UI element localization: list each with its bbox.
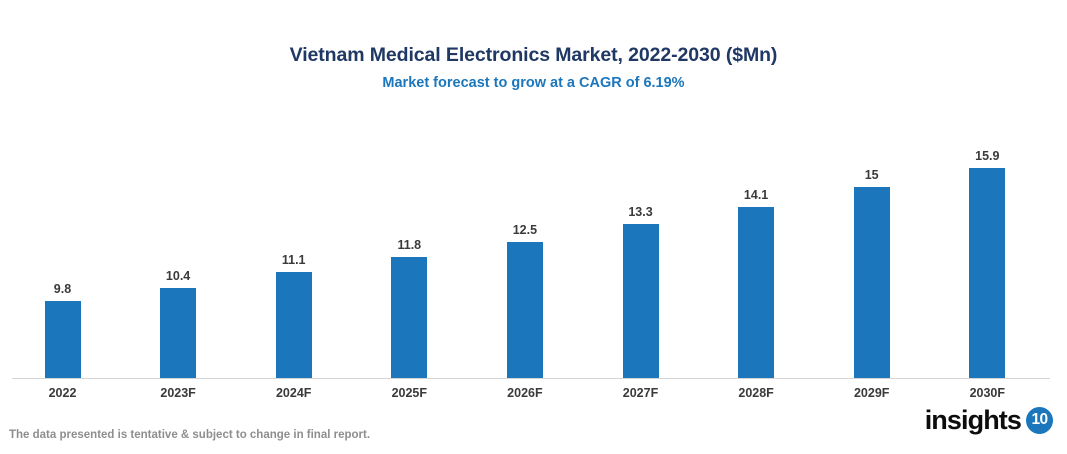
bar-group: 11.1 xyxy=(276,272,312,378)
category-label: 2022 xyxy=(49,386,77,401)
bar-group: 10.4 xyxy=(160,288,196,378)
bar[interactable] xyxy=(969,168,1005,378)
bar-value-label: 13.3 xyxy=(628,205,652,219)
disclaimer-text: The data presented is tentative & subjec… xyxy=(9,429,370,441)
insights10-logo: insights 10 xyxy=(925,406,1053,434)
bar[interactable] xyxy=(276,272,312,378)
bar-group: 15 xyxy=(854,187,890,378)
bar-value-label: 11.1 xyxy=(282,253,306,267)
chart-figure: Vietnam Medical Electronics Market, 2022… xyxy=(0,0,1067,454)
logo-badge-icon: 10 xyxy=(1026,407,1053,434)
bar[interactable] xyxy=(45,301,81,378)
category-label: 2030F xyxy=(970,386,1005,401)
x-axis-line xyxy=(12,378,1050,379)
category-label: 2025F xyxy=(392,386,427,401)
category-label: 2027F xyxy=(623,386,658,401)
bar-group: 11.8 xyxy=(391,257,427,378)
bar-group: 15.9 xyxy=(969,168,1005,378)
category-label: 2028F xyxy=(738,386,773,401)
logo-wordmark: insights xyxy=(925,406,1021,434)
plot-area: 9.8202210.42023F11.12024F11.82025F12.520… xyxy=(0,0,1067,454)
category-label: 2023F xyxy=(160,386,195,401)
bar-value-label: 9.8 xyxy=(54,282,71,296)
bar-group: 14.1 xyxy=(738,207,774,378)
bar-group: 13.3 xyxy=(623,224,659,378)
bar-group: 9.8 xyxy=(45,301,81,378)
bar[interactable] xyxy=(160,288,196,378)
bar-value-label: 15 xyxy=(865,168,879,182)
bar-group: 12.5 xyxy=(507,242,543,378)
bar-value-label: 15.9 xyxy=(975,149,999,163)
bar[interactable] xyxy=(623,224,659,378)
bar[interactable] xyxy=(391,257,427,378)
category-label: 2029F xyxy=(854,386,889,401)
bar-value-label: 10.4 xyxy=(166,269,190,283)
bar-value-label: 14.1 xyxy=(744,188,768,202)
category-label: 2024F xyxy=(276,386,311,401)
bar-value-label: 11.8 xyxy=(397,238,421,252)
bar[interactable] xyxy=(507,242,543,378)
bar-value-label: 12.5 xyxy=(513,223,537,237)
category-label: 2026F xyxy=(507,386,542,401)
bar[interactable] xyxy=(738,207,774,378)
bar[interactable] xyxy=(854,187,890,378)
